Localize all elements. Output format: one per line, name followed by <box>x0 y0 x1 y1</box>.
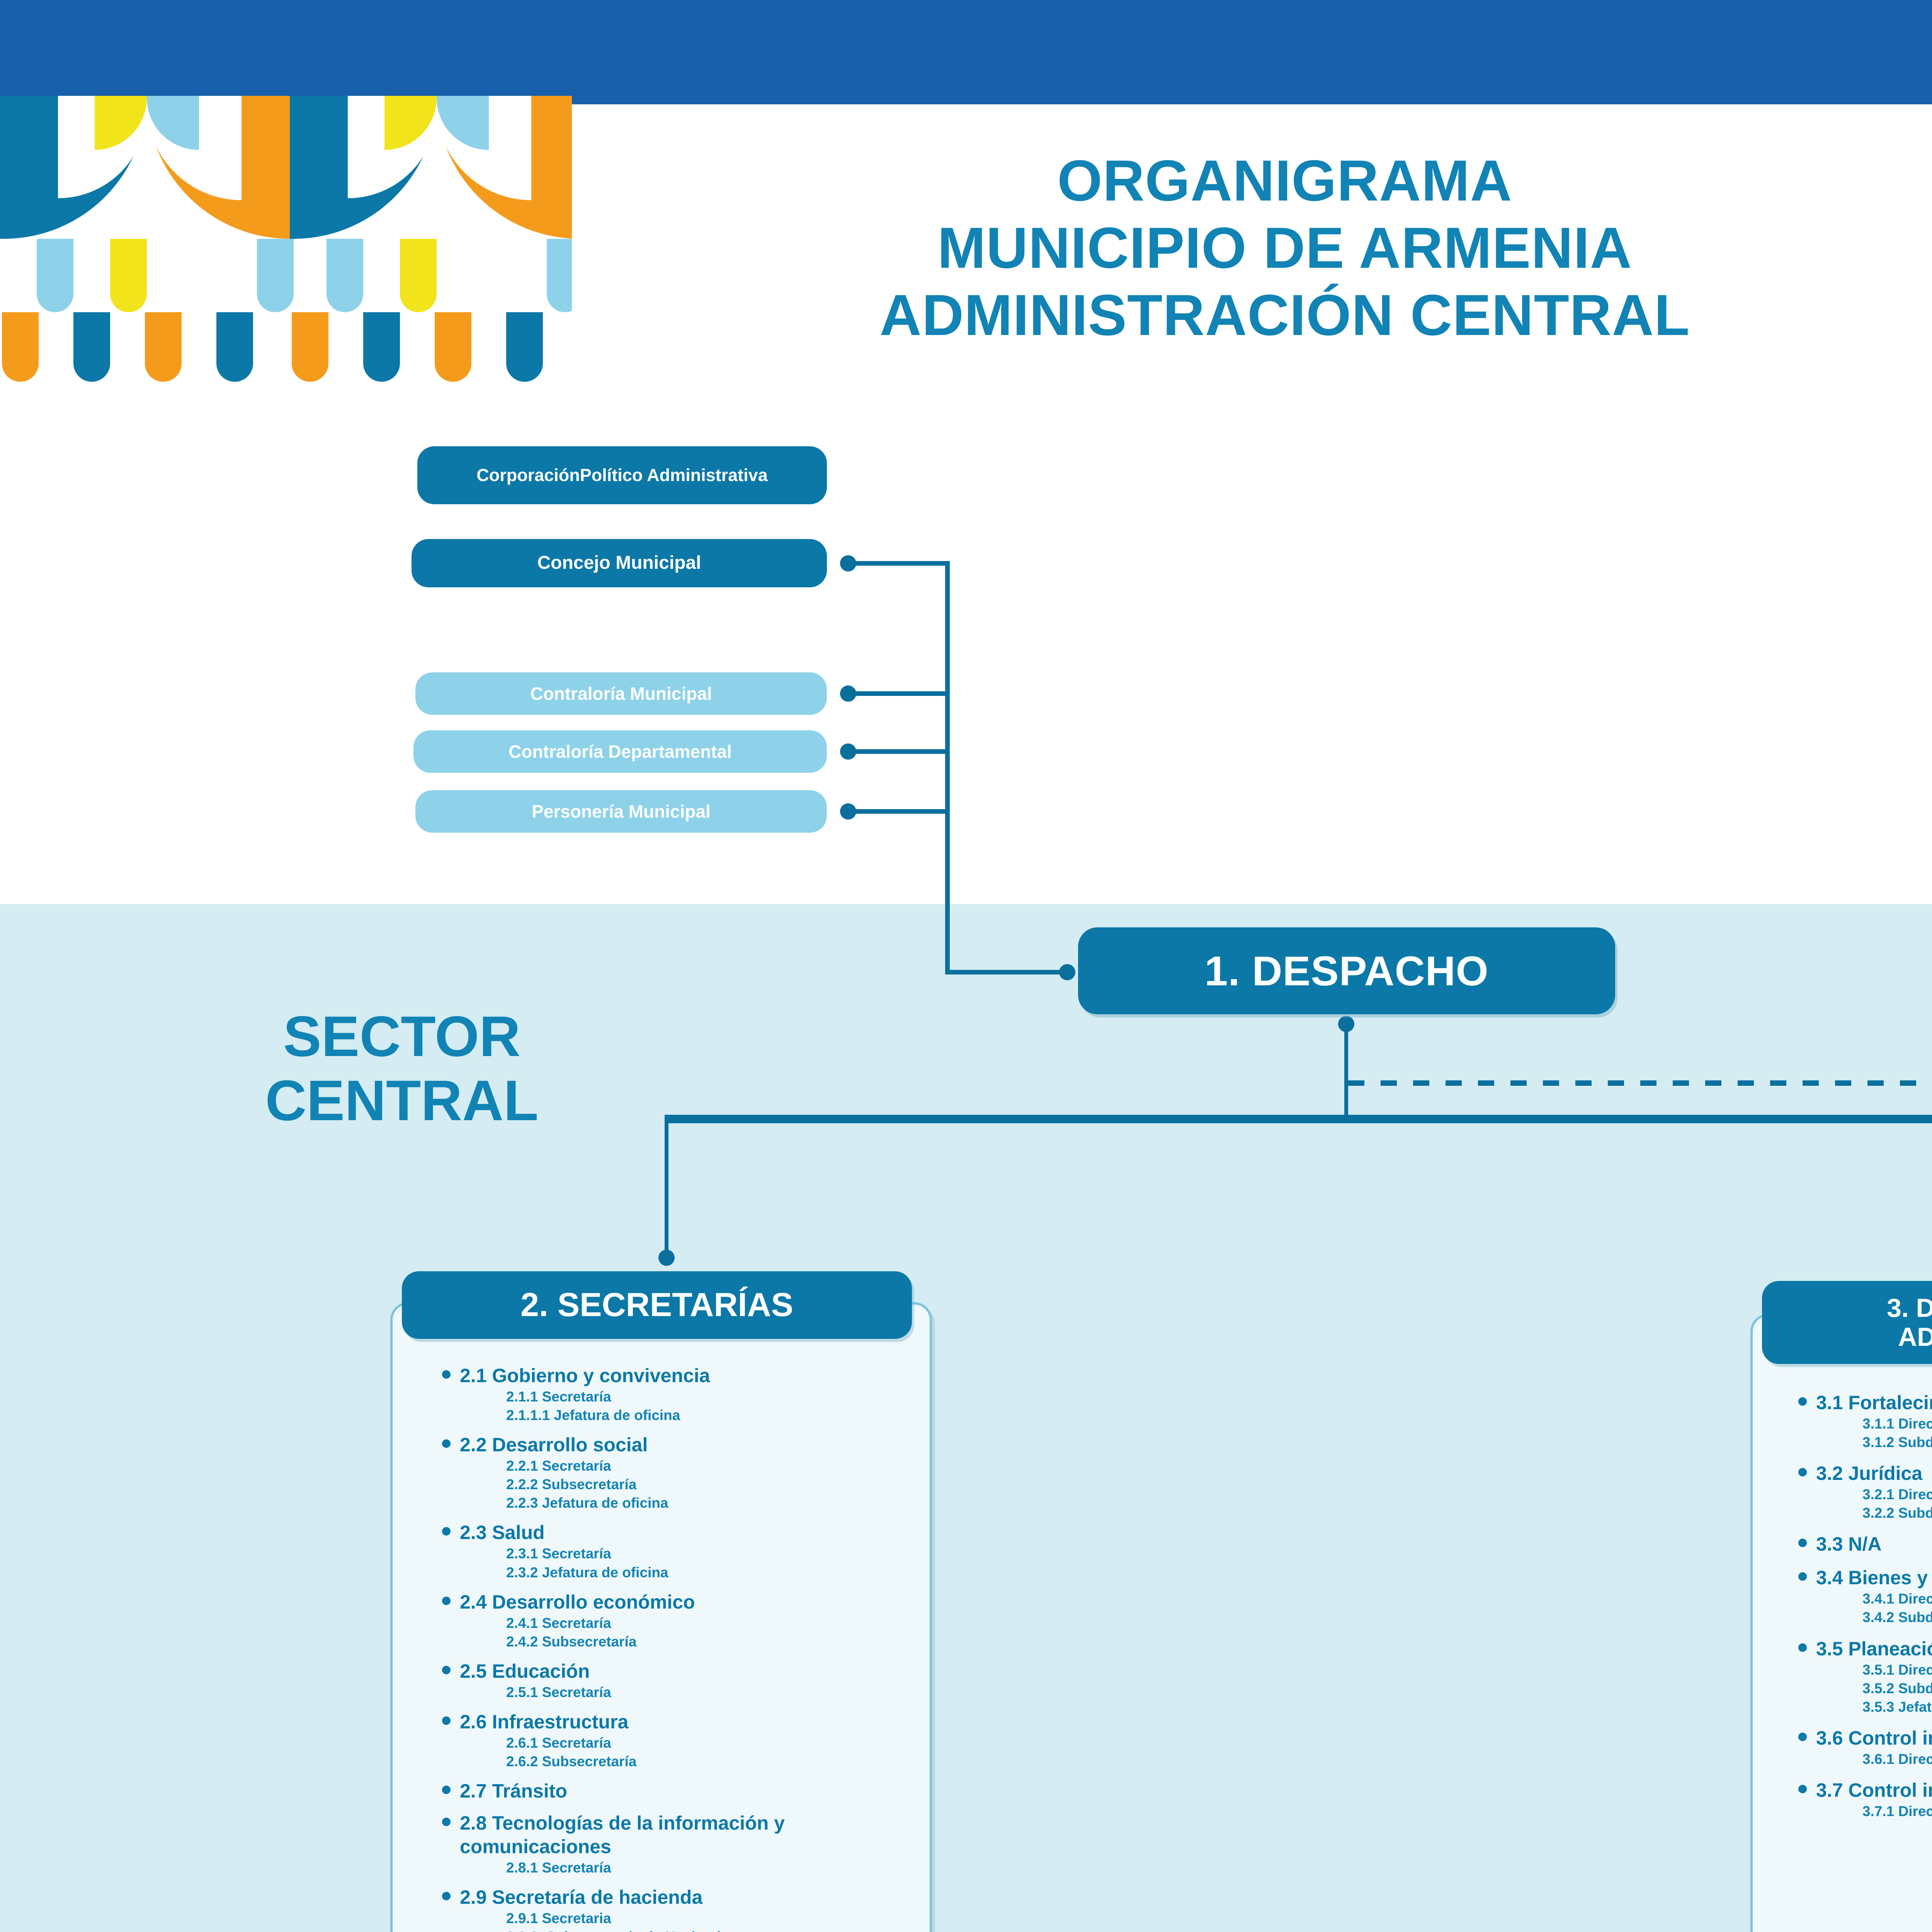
bullet-icon <box>442 1597 451 1605</box>
top-blue-bar <box>0 0 1932 104</box>
list-subitem: 2.2.1 Secretaría <box>506 1457 916 1475</box>
list-subitem: 2.5.1 Secretaría <box>506 1683 916 1702</box>
secretarias-list: 2.1 Gobierno y convivencia2.1.1 Secretar… <box>460 1364 916 1932</box>
entity-box-label: Personería Municipal <box>532 801 711 822</box>
deco-tile <box>292 312 328 382</box>
connector-line <box>945 561 950 975</box>
entity-box[interactable]: Contraloría Departamental <box>413 730 827 773</box>
connector-line <box>667 1115 1932 1123</box>
list-item-label[interactable]: 2.3 Salud <box>460 1521 916 1544</box>
title-line-1: ORGANIGRAMA <box>676 147 1893 214</box>
list-item-label[interactable]: 2.9 Secretaría de hacienda <box>460 1886 916 1909</box>
list-subitem: 3.5.1 Dirección <box>1862 1661 1932 1679</box>
bullet-icon <box>1798 1733 1807 1741</box>
page-title: ORGANIGRAMA MUNICIPIO DE ARMENIA ADMINIS… <box>676 147 1893 349</box>
list-subitem: 3.1.2 Subdirección <box>1862 1433 1932 1452</box>
connector-node <box>840 685 856 702</box>
despacho-box[interactable]: 1. DESPACHO <box>1078 927 1615 1014</box>
connector-node <box>1059 964 1075 980</box>
deco-tile <box>547 239 572 312</box>
list-subitem: 3.4.2 Subdirección <box>1862 1608 1932 1627</box>
list-item: 3.4 Bienes y suministros3.4.1 Dirección3… <box>1816 1566 1932 1627</box>
list-item: 2.9 Secretaría de hacienda2.9.1 Secretar… <box>460 1886 916 1932</box>
entity-box-label: Contraloría Departamental <box>509 741 732 762</box>
deco-tile <box>257 239 294 312</box>
connector-node <box>840 743 856 760</box>
list-item: 2.2 Desarrollo social2.2.1 Secretaría2.2… <box>460 1433 916 1512</box>
entity-box[interactable]: CorporaciónPolítico Administrativa <box>417 446 827 504</box>
connector-node <box>840 803 856 820</box>
deco-tile <box>37 239 73 312</box>
list-item: 2.1 Gobierno y convivencia2.1.1 Secretar… <box>460 1364 916 1425</box>
list-subitem: 2.3.2 Jefatura de oficina <box>506 1563 916 1582</box>
organigrama-page: D-DF-PTH-076 V4 02/02/2022 ORGANIGRAMA M… <box>0 0 1932 1932</box>
list-subitem: 2.2.2 Subsecretaría <box>506 1475 916 1494</box>
entity-box[interactable]: Concejo Municipal <box>412 539 827 587</box>
connector-node <box>658 1250 675 1266</box>
list-subitem: 3.7.1 Dirección <box>1862 1802 1932 1821</box>
list-subitem: 2.9.2. Subsecretaria de Hacienda <box>506 1928 916 1932</box>
list-item-label[interactable]: 3.3 N/A <box>1816 1532 1932 1556</box>
sector-line-1: SECTOR <box>228 1005 576 1069</box>
list-item: 2.5 Educación2.5.1 Secretaría <box>460 1660 916 1702</box>
connector-line <box>945 970 1065 975</box>
connector-line <box>848 561 947 566</box>
deco-tile <box>400 239 437 312</box>
entity-box-label: Corporación <box>476 465 580 485</box>
connector-line <box>848 691 947 696</box>
list-subitem: 2.6.1 Secretaría <box>506 1734 916 1752</box>
deco-tile <box>73 312 110 382</box>
deco-tile <box>216 312 253 382</box>
deco-tile <box>145 312 182 382</box>
bullet-icon <box>1798 1785 1807 1793</box>
list-subitem: 3.5.3 Jefatura de oficina <box>1862 1698 1932 1716</box>
list-item-label[interactable]: 2.2 Desarrollo social <box>460 1433 916 1457</box>
list-subitem: 2.3.1 Secretaría <box>506 1544 916 1563</box>
entity-box[interactable]: Personería Municipal <box>415 790 827 833</box>
list-subitem: 3.4.1 Dirección <box>1862 1590 1932 1608</box>
list-item: 3.7 Control interno disciplinario3.7.1 D… <box>1816 1779 1932 1821</box>
title-line-2: MUNICIPIO DE ARMENIA <box>676 214 1893 281</box>
connector-line <box>848 749 947 754</box>
list-item: 2.3 Salud2.3.1 Secretaría2.3.2 Jefatura … <box>460 1521 916 1582</box>
entity-box-label: Contraloría Municipal <box>530 683 712 704</box>
list-item-label[interactable]: 3.1 Fortalecimiento institucional <box>1816 1391 1932 1415</box>
deco-tile <box>110 239 147 312</box>
bullet-icon <box>442 1716 451 1725</box>
connector-line <box>665 1115 668 1264</box>
list-item-label[interactable]: 2.1 Gobierno y convivencia <box>460 1364 916 1388</box>
list-item-label[interactable]: 3.6 Control interno <box>1816 1726 1932 1750</box>
departamentos-title-line-2: ADMINISTRATIVOS <box>1887 1323 1932 1352</box>
connector-node <box>1338 1016 1354 1032</box>
list-subitem: 2.2.3 Jefatura de oficina <box>506 1494 916 1512</box>
list-item-label[interactable]: 2.7 Tránsito <box>460 1779 916 1803</box>
title-line-3: ADMINISTRACIÓN CENTRAL <box>676 281 1893 349</box>
secretarias-title: 2. SECRETARÍAS <box>402 1271 912 1339</box>
entity-box-label: Concejo Municipal <box>537 552 701 574</box>
departamentos-title-line-1: 3. DEPARTAMENTOS <box>1887 1294 1932 1323</box>
list-item-label[interactable]: 2.4 Desarrollo económico <box>460 1590 916 1614</box>
bullet-icon <box>1798 1397 1807 1406</box>
deco-tile <box>435 312 471 382</box>
list-subitem: 3.6.1 Dirección <box>1862 1750 1932 1769</box>
list-subitem: 2.4.2 Subsecretaría <box>506 1633 916 1651</box>
list-item-label[interactable]: 2.6 Infraestructura <box>460 1710 916 1734</box>
sector-central-label: SECTOR CENTRAL <box>228 1005 576 1133</box>
list-subitem: 2.1.1 Secretaría <box>506 1388 916 1406</box>
deco-tile <box>2 312 39 382</box>
list-subitem: 2.4.1 Secretaría <box>506 1614 916 1633</box>
entity-box-label: Político Administrativa <box>580 465 768 485</box>
list-item: 3.3 N/A <box>1816 1532 1932 1556</box>
list-subitem: 2.8.1 Secretaría <box>506 1859 916 1877</box>
connector-line <box>848 809 947 814</box>
connector-dashed <box>1348 1080 1932 1086</box>
deco-tile <box>327 239 363 312</box>
bullet-icon <box>442 1666 451 1674</box>
deco-tile <box>363 312 400 382</box>
list-item: 3.5 Planeación3.5.1 Dirección3.5.2 Subdi… <box>1816 1637 1932 1716</box>
bullet-icon <box>1798 1643 1807 1652</box>
list-item-label[interactable]: 3.5 Planeación <box>1816 1637 1932 1661</box>
connector-node <box>840 555 856 571</box>
list-subitem: 2.9.1 Secretaria <box>506 1909 916 1928</box>
bullet-icon <box>442 1818 451 1826</box>
entity-box[interactable]: Contraloría Municipal <box>415 672 827 715</box>
sector-line-2: CENTRAL <box>228 1069 576 1133</box>
bullet-icon <box>442 1786 451 1794</box>
list-item: 2.4 Desarrollo económico2.4.1 Secretaría… <box>460 1590 916 1651</box>
list-subitem: 3.2.1 Dirección <box>1862 1485 1932 1504</box>
deco-tile <box>506 312 543 382</box>
list-item: 3.1 Fortalecimiento institucional3.1.1 D… <box>1816 1391 1932 1452</box>
list-item-label[interactable]: 2.8 Tecnologías de la información y comu… <box>460 1811 916 1859</box>
list-subitem: 3.1.1 Dirección <box>1862 1415 1932 1433</box>
list-subitem: 3.2.2 Subdirección <box>1862 1504 1932 1522</box>
list-item-label[interactable]: 3.7 Control interno disciplinario <box>1816 1779 1932 1802</box>
list-item: 2.8 Tecnologías de la información y comu… <box>460 1811 916 1877</box>
list-item: 3.6 Control interno3.6.1 Dirección <box>1816 1726 1932 1769</box>
list-subitem: 3.5.2 Subdirección <box>1862 1679 1932 1698</box>
list-item-label[interactable]: 3.2 Jurídica <box>1816 1462 1932 1485</box>
list-subitem: 2.1.1.1 Jefatura de oficina <box>506 1406 916 1425</box>
departamentos-list: 3.1 Fortalecimiento institucional3.1.1 D… <box>1816 1391 1932 1831</box>
list-item-label[interactable]: 3.4 Bienes y suministros <box>1816 1566 1932 1590</box>
list-item: 2.7 Tránsito <box>460 1779 916 1803</box>
list-item: 2.6 Infraestructura2.6.1 Secretaría2.6.2… <box>460 1710 916 1771</box>
decorative-pattern-left <box>0 96 572 382</box>
departamentos-title: 3. DEPARTAMENTOS ADMINISTRATIVOS <box>1762 1281 1932 1364</box>
list-item: 3.2 Jurídica3.2.1 Dirección3.2.2 Subdire… <box>1816 1462 1932 1522</box>
list-item-label[interactable]: 2.5 Educación <box>460 1660 916 1683</box>
list-subitem: 2.6.2 Subsecretaría <box>506 1752 916 1771</box>
bullet-icon <box>442 1370 451 1379</box>
